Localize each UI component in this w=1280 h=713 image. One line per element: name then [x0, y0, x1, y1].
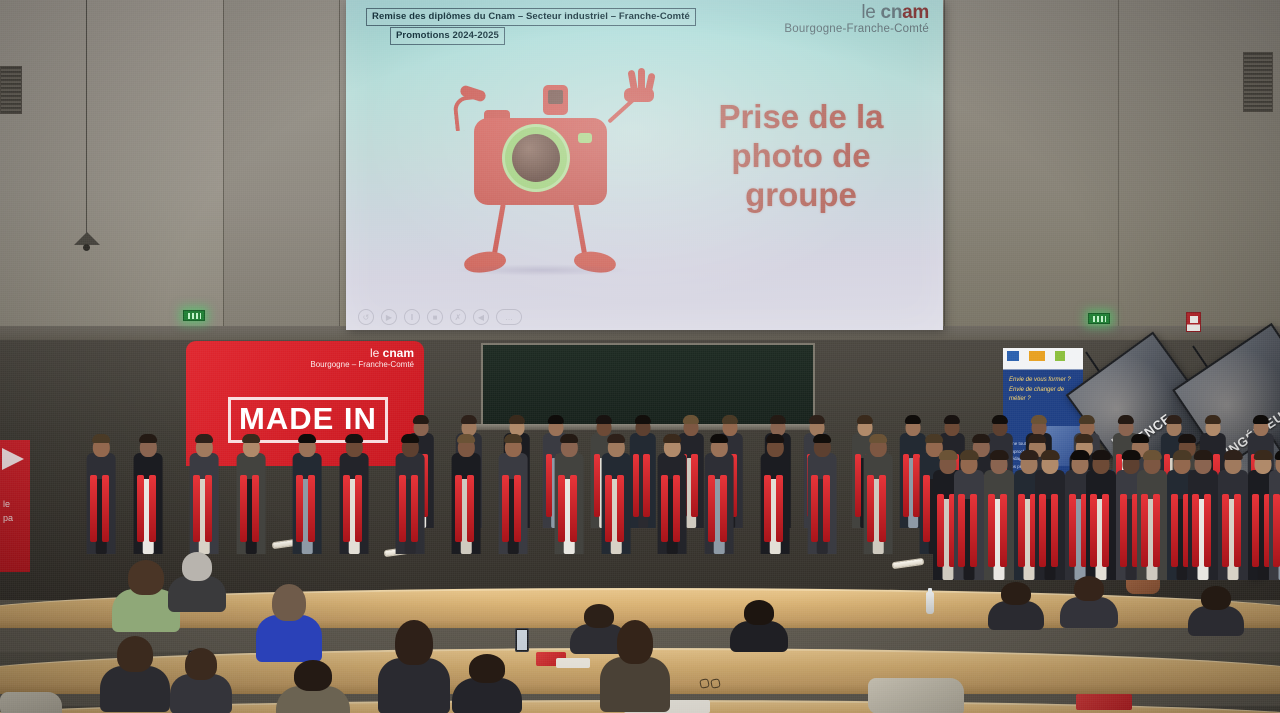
- graduate-red-stole: [903, 454, 909, 517]
- mascot-lens-glass: [512, 134, 560, 182]
- graduate-hair: [925, 434, 943, 444]
- graduate-red-stole: [673, 475, 680, 542]
- graduate-red-stole: [149, 475, 156, 542]
- graduate-red-stole: [764, 475, 771, 542]
- cnam-logo-slide: le cnam Bourgogne-Franche-Comté: [784, 3, 929, 36]
- graduate-figure: [85, 428, 118, 554]
- graduate-red-stole: [958, 494, 965, 567]
- graduate-hair: [1041, 450, 1060, 460]
- graduate-red-stole: [691, 454, 697, 517]
- graduate-red-stole: [605, 475, 612, 542]
- banner-logo-le: le: [370, 346, 383, 360]
- graduate-hair: [1031, 415, 1047, 424]
- graduate-figure: [338, 428, 371, 554]
- audience-head: [1001, 582, 1030, 605]
- audience-body: [170, 674, 232, 713]
- white-papers: [556, 658, 590, 668]
- graduate-figure: [703, 428, 736, 554]
- graduate-hair: [990, 450, 1009, 460]
- graduate-red-stole: [252, 475, 259, 542]
- graduate-red-stole: [937, 494, 944, 567]
- graduate-figure: [132, 428, 165, 554]
- graduate-hair: [944, 415, 960, 424]
- stop-icon[interactable]: ■: [427, 309, 443, 325]
- mascot-right-leg: [573, 203, 588, 259]
- graduate-figure: [759, 428, 792, 554]
- graduate-hair: [992, 415, 1008, 424]
- graduate-hair: [504, 434, 522, 444]
- graduate-red-stole: [90, 475, 97, 542]
- graduate-hair: [1118, 415, 1134, 424]
- graduate-hair: [560, 434, 578, 444]
- play-icon[interactable]: ▶: [381, 309, 397, 325]
- graduate-hair: [1224, 450, 1243, 460]
- attendee-phone-shooter: [378, 620, 450, 713]
- exit-sign-icon-right: [1088, 313, 1110, 324]
- graduate-hair: [92, 434, 110, 444]
- graduate-hair: [635, 415, 651, 424]
- graduate-hair: [766, 434, 784, 444]
- graduate-hair: [509, 415, 525, 424]
- wall-panel-left-2: [224, 0, 340, 340]
- graduate-figure: [450, 428, 483, 554]
- graduate-red-stole: [633, 454, 639, 517]
- graduate-hair: [1092, 450, 1111, 460]
- graduate-hair: [195, 434, 213, 444]
- graduate-figure: [553, 428, 586, 554]
- attendee-phone-left: [170, 648, 232, 713]
- ventilation-grille-icon-left: [0, 66, 22, 114]
- graduate-hair: [1194, 450, 1213, 460]
- pendant-light-wire: [86, 0, 87, 235]
- graduate-red-stole: [823, 475, 830, 542]
- mascot-waving-hand-icon: [622, 68, 658, 102]
- audience-head: [744, 600, 774, 625]
- audience-body: [600, 657, 670, 712]
- banner-logo-cn: cn: [383, 346, 397, 360]
- cnam-wordmark: le cnam: [784, 3, 929, 22]
- audience-head: [128, 560, 163, 595]
- graduate-figure: [656, 428, 689, 554]
- graduate-hair: [298, 434, 316, 444]
- graduate-red-stole: [776, 475, 783, 542]
- audience-head: [617, 620, 653, 664]
- graduate-figure: [497, 428, 530, 554]
- audience-body: [452, 678, 522, 713]
- fire-extinguisher-sign-icon: [1186, 312, 1201, 332]
- projection-screen: Remise des diplômes du Cnam – Secteur in…: [346, 0, 943, 330]
- graduate-figure: [1084, 444, 1118, 580]
- graduate-hair: [1178, 434, 1196, 444]
- graduate-red-stole: [661, 475, 668, 542]
- replay-icon[interactable]: ↺: [358, 309, 374, 325]
- graduate-hair: [770, 415, 786, 424]
- attendee-hoodie: [276, 660, 350, 713]
- graduate-figure: [235, 428, 268, 554]
- red-diploma-folder-2: [1076, 694, 1132, 710]
- graduate-red-stole: [137, 475, 144, 542]
- graduate-red-stole: [811, 475, 818, 542]
- graduate-red-stole: [923, 475, 930, 542]
- graduate-red-stole: [720, 475, 727, 542]
- graduate-figure: [806, 428, 839, 554]
- graduate-red-stole: [617, 475, 624, 542]
- audience-body: [730, 621, 788, 652]
- graduate-red-stole: [988, 494, 995, 567]
- cnam-logo-region: Bourgogne-Franche-Comté: [784, 24, 929, 36]
- graduate-red-stole: [1222, 494, 1229, 567]
- camera-mascot-icon: [426, 60, 656, 280]
- cnam-logo-am: am: [902, 2, 929, 23]
- media-playback-toolbar[interactable]: ↺▶‖■✗◀…: [358, 309, 522, 325]
- graduate-red-stole: [708, 475, 715, 542]
- audience-head: [469, 654, 505, 683]
- graduate-hair: [857, 415, 873, 424]
- graduate-figure: [600, 428, 633, 554]
- graduate-red-stole: [411, 475, 418, 542]
- graduate-red-stole: [879, 475, 886, 542]
- attendee-blue-puffer: [256, 584, 322, 662]
- graduate-red-stole: [240, 475, 247, 542]
- slide-title-line-2: Promotions 2024-2025: [390, 27, 505, 45]
- graduate-red-stole: [455, 475, 462, 542]
- graduate-hair: [457, 434, 475, 444]
- audience-body: [168, 576, 226, 612]
- wall-panel-left: [0, 0, 224, 340]
- settings-icon[interactable]: …: [496, 309, 522, 325]
- graduate-red-stole: [467, 475, 474, 542]
- graduate-red-stole: [1273, 494, 1280, 567]
- graduate-red-stole: [1051, 494, 1058, 567]
- banner-cnam-region: Bourgogne – Franche-Comté: [310, 361, 414, 369]
- banner-logo-am: am: [397, 346, 414, 360]
- graduate-red-stole: [1252, 494, 1259, 567]
- attendee-grey-hair: [168, 552, 226, 612]
- graduate-hair: [1205, 415, 1221, 424]
- audience-head: [1074, 576, 1104, 601]
- graduate-figure: [1216, 444, 1250, 580]
- graduate-hair: [1028, 434, 1046, 444]
- graduate-hair: [548, 415, 564, 424]
- banner-cnam-logo: le cnam Bourgogne – Franche-Comté: [310, 347, 414, 369]
- graduate-red-stole: [205, 475, 212, 542]
- graduate-hair: [596, 415, 612, 424]
- attendee-centre: [600, 620, 670, 712]
- graduate-figure: [1267, 444, 1280, 580]
- auditorium-photo-scene: Remise des diplômes du Cnam – Secteur in…: [0, 0, 1280, 713]
- cnam-logo-le: le: [861, 2, 880, 23]
- graduate-figure: [1135, 444, 1169, 580]
- graduate-red-stole: [1192, 494, 1199, 567]
- graduate-hair: [809, 415, 825, 424]
- mascot-viewfinder: [578, 133, 592, 143]
- audience-body: [988, 601, 1044, 630]
- graduate-hair: [663, 434, 681, 444]
- exit-sign-icon-left: [183, 310, 205, 321]
- graduate-red-stole: [343, 475, 350, 542]
- slide-heading: Prise de la photo de groupe: [676, 98, 926, 215]
- graduate-red-stole: [355, 475, 362, 542]
- mascot-left-leg: [491, 203, 506, 259]
- audience-body: [1060, 597, 1118, 628]
- mascot-flash-unit: [543, 85, 568, 115]
- attendee-long-hair: [100, 636, 170, 712]
- graduate-figure: [291, 428, 324, 554]
- attendee-dark-coat: [452, 654, 522, 713]
- graduate-hair: [813, 434, 831, 444]
- graduate-hair: [139, 434, 157, 444]
- graduate-red-stole: [570, 475, 577, 542]
- graduate-red-stole: [1234, 494, 1241, 567]
- audience-body: [378, 658, 450, 713]
- graduate-hair: [1131, 434, 1149, 444]
- audience-head: [185, 648, 217, 680]
- attendee-right-1: [988, 582, 1044, 630]
- graduate-red-stole: [867, 475, 874, 542]
- poster-partner-logos: [1007, 351, 1065, 361]
- graduate-hair: [1143, 450, 1162, 460]
- graduate-red-stole: [643, 454, 649, 517]
- graduate-red-stole: [399, 475, 406, 542]
- graduate-hair: [413, 415, 429, 424]
- graduate-hair: [345, 434, 363, 444]
- audience-head: [182, 552, 212, 581]
- mascot-shadow: [454, 264, 630, 276]
- graduate-figure: [1186, 444, 1220, 580]
- smartphone-icon-1: [515, 628, 529, 652]
- graduate-hair: [401, 434, 419, 444]
- graduate-red-stole: [1153, 494, 1160, 567]
- graduate-hair: [607, 434, 625, 444]
- graduate-hair: [1075, 434, 1093, 444]
- graduate-hair: [960, 450, 979, 460]
- tote-bag-2: [0, 692, 62, 713]
- pendant-light-bulb: [83, 244, 90, 251]
- audience-body: [256, 615, 322, 662]
- graduate-hair: [1166, 415, 1182, 424]
- wall-panel-right: [944, 0, 1280, 340]
- graduate-figure: [862, 428, 895, 554]
- graduate-hair: [683, 415, 699, 424]
- graduate-red-stole: [102, 475, 109, 542]
- attendee-bun: [730, 600, 788, 652]
- graduate-red-stole: [514, 475, 521, 542]
- audience-body: [100, 666, 170, 712]
- graduate-hair: [972, 434, 990, 444]
- graduate-red-stole: [296, 475, 303, 542]
- mute-icon[interactable]: ✗: [450, 309, 466, 325]
- graduate-red-stole: [1204, 494, 1211, 567]
- water-bottle-icon: [926, 592, 934, 614]
- cnam-logo-cn: cn: [881, 2, 903, 23]
- graduate-figure: [394, 428, 427, 554]
- audience-head: [117, 636, 153, 672]
- audience-head: [294, 660, 332, 691]
- audience-body: [1188, 606, 1244, 636]
- graduate-red-stole: [546, 454, 552, 517]
- graduate-hair: [242, 434, 260, 444]
- graduate-red-stole: [1141, 494, 1148, 567]
- eyeglasses-icon: [700, 678, 726, 690]
- slide-title-line-1: Remise des diplômes du Cnam – Secteur in…: [366, 8, 696, 26]
- graduate-hair: [905, 415, 921, 424]
- wall-seam-right: [1118, 0, 1119, 340]
- graduate-red-stole: [1102, 494, 1109, 567]
- graduate-hair: [722, 415, 738, 424]
- volume-icon[interactable]: ◀: [473, 309, 489, 325]
- graduate-red-stole: [308, 475, 315, 542]
- graduate-red-stole: [1000, 494, 1007, 567]
- graduate-figure: [952, 444, 986, 580]
- graduate-red-stole: [1039, 494, 1046, 567]
- tote-bag: [868, 678, 964, 713]
- graduate-figure: [188, 428, 221, 554]
- pause-icon[interactable]: ‖: [404, 309, 420, 325]
- audience-head: [1201, 586, 1230, 610]
- graduate-red-stole: [558, 475, 565, 542]
- graduate-red-stole: [193, 475, 200, 542]
- graduate-figure: [982, 444, 1016, 580]
- graduate-red-stole: [1120, 494, 1127, 567]
- graduate-figure: [1033, 444, 1067, 580]
- attendee-right-3: [1188, 586, 1244, 636]
- graduate-hair: [1079, 415, 1095, 424]
- banner-cnam-wordmark: le cnam: [310, 347, 414, 360]
- graduate-red-stole: [1090, 494, 1097, 567]
- audience-head: [395, 620, 432, 665]
- attendee-right-2: [1060, 576, 1118, 628]
- audience-head: [272, 584, 306, 621]
- graduate-hair: [1253, 415, 1269, 424]
- graduate-red-stole: [1171, 494, 1178, 567]
- graduate-hair: [1275, 450, 1280, 460]
- ventilation-grille-icon-right: [1243, 52, 1273, 112]
- graduate-red-stole: [502, 475, 509, 542]
- graduate-hair: [869, 434, 887, 444]
- graduate-red-stole: [1018, 494, 1025, 567]
- graduate-red-stole: [970, 494, 977, 567]
- graduate-red-stole: [855, 454, 861, 517]
- graduate-hair: [710, 434, 728, 444]
- graduate-red-stole: [1069, 494, 1076, 567]
- graduate-hair: [461, 415, 477, 424]
